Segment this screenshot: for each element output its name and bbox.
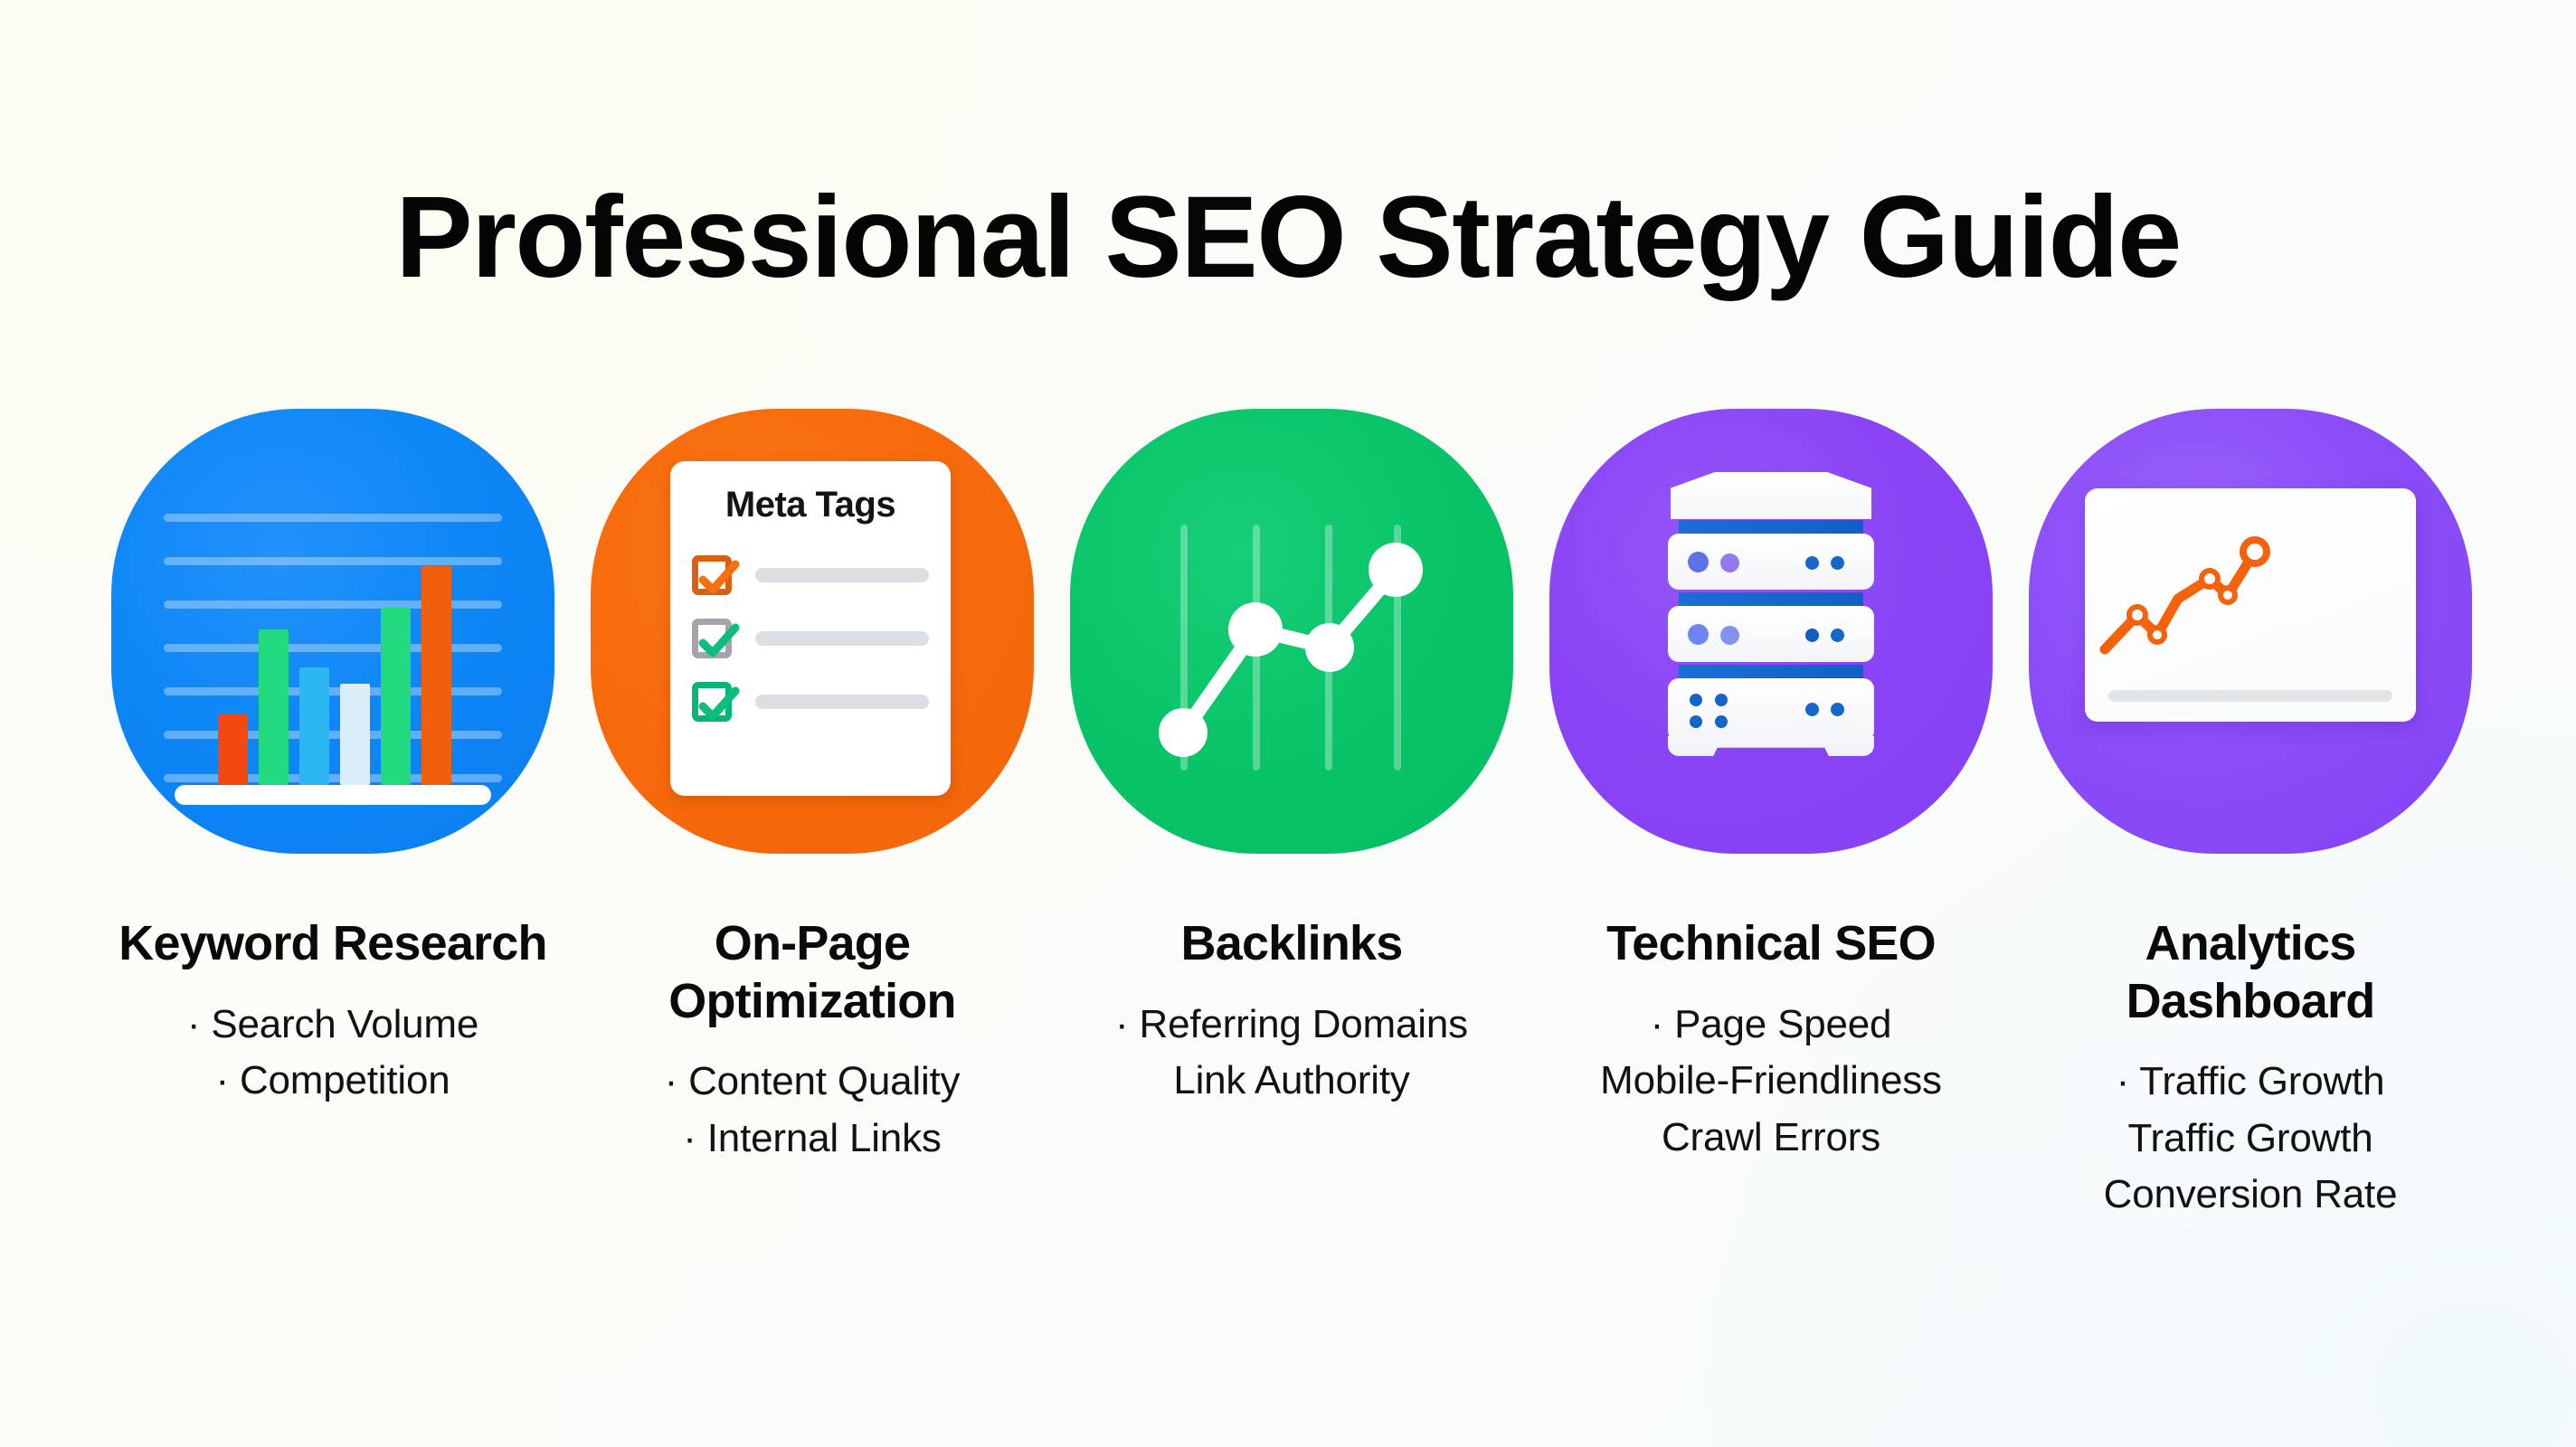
list-item: · Traffic Growth bbox=[2104, 1054, 2398, 1110]
checklist-line-group bbox=[755, 695, 929, 709]
bar-chart-icon bbox=[111, 409, 554, 854]
list-item: · Internal Links bbox=[665, 1111, 961, 1167]
meta-tags-card-title: Meta Tags bbox=[670, 485, 951, 525]
list-item: · Search Volume bbox=[187, 997, 478, 1053]
list-item: Crawl Errors bbox=[1600, 1110, 1942, 1166]
list-item: Link Authority bbox=[1115, 1053, 1468, 1109]
server-base bbox=[1668, 736, 1874, 756]
column-technical-seo: Technical SEO · Page Speed Mobile-Friend… bbox=[1545, 409, 1997, 1166]
checklist-line-group bbox=[755, 631, 929, 646]
checklist-rows bbox=[670, 544, 951, 733]
checklist-row bbox=[692, 544, 929, 607]
checkbox-checked-green-icon bbox=[692, 682, 732, 722]
column-title: Analytics Dashboard bbox=[2024, 915, 2477, 1030]
column-items: · Referring Domains Link Authority bbox=[1115, 997, 1468, 1110]
dashboard-axis-line bbox=[2108, 690, 2392, 702]
server-unit bbox=[1668, 534, 1874, 590]
analytics-screen-icon bbox=[2029, 409, 2472, 854]
checkbox-checked-orange-icon bbox=[692, 555, 732, 595]
list-item: · Content Quality bbox=[665, 1054, 961, 1110]
column-items: · Traffic Growth Traffic Growth Conversi… bbox=[2104, 1054, 2398, 1223]
server-rack-icon bbox=[1549, 409, 1993, 854]
column-keyword-research: Keyword Research · Search Volume · Compe… bbox=[107, 409, 559, 1110]
server-unit bbox=[1668, 678, 1874, 742]
checkbox-checked-gray-icon bbox=[692, 619, 732, 658]
column-items: · Search Volume · Competition bbox=[187, 997, 478, 1110]
line-chart-series bbox=[1070, 409, 1513, 854]
checklist-row bbox=[692, 670, 929, 733]
list-item: Mobile-Friendliness bbox=[1600, 1053, 1942, 1109]
analytics-line-series bbox=[2085, 488, 2416, 722]
column-items: · Content Quality · Internal Links bbox=[665, 1054, 961, 1167]
server-stack bbox=[1668, 499, 1874, 761]
column-title: Backlinks bbox=[1181, 915, 1403, 973]
checklist-line-group bbox=[755, 568, 929, 582]
bar-chart-baseline bbox=[175, 785, 491, 805]
page-title: Professional SEO Strategy Guide bbox=[0, 175, 2576, 300]
column-items: · Page Speed Mobile-Friendliness Crawl E… bbox=[1600, 997, 1942, 1166]
list-item: Traffic Growth bbox=[2104, 1111, 2398, 1167]
column-analytics-dashboard: Analytics Dashboard · Traffic Growth Tra… bbox=[2024, 409, 2477, 1224]
bar-chart-bars bbox=[218, 559, 451, 785]
list-item: · Page Speed bbox=[1600, 997, 1942, 1053]
infographic-page: Professional SEO Strategy Guide bbox=[0, 0, 2576, 1447]
column-title: On-Page Optimization bbox=[668, 915, 955, 1030]
line-chart-icon bbox=[1070, 409, 1513, 854]
column-title: Keyword Research bbox=[118, 915, 546, 973]
server-top-cap bbox=[1671, 472, 1871, 519]
column-backlinks: Backlinks · Referring Domains Link Autho… bbox=[1065, 409, 1518, 1110]
list-item: · Referring Domains bbox=[1115, 997, 1468, 1053]
column-on-page-optimization: Meta Tags bbox=[586, 409, 1038, 1167]
dashboard-screen bbox=[2085, 488, 2416, 722]
checklist-row bbox=[692, 607, 929, 670]
server-unit bbox=[1668, 606, 1874, 662]
column-title: Technical SEO bbox=[1606, 915, 1936, 973]
meta-tags-card: Meta Tags bbox=[670, 461, 951, 796]
list-item: · Competition bbox=[187, 1053, 478, 1109]
list-item: Conversion Rate bbox=[2104, 1167, 2398, 1223]
meta-tags-checklist-icon: Meta Tags bbox=[591, 409, 1034, 854]
feature-columns: Keyword Research · Search Volume · Compe… bbox=[107, 409, 2477, 1224]
